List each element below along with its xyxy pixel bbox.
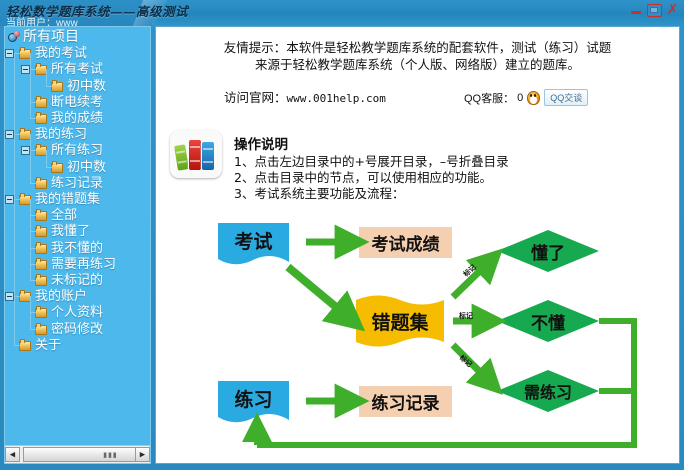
tree-node-2[interactable]: 我的成绩 bbox=[35, 110, 103, 127]
tree-node-2[interactable]: 我不懂的 bbox=[35, 240, 103, 257]
tree-connector bbox=[30, 134, 31, 183]
tree-connector bbox=[30, 215, 36, 216]
books-icon bbox=[170, 130, 222, 178]
tree-node-root[interactable]: 所有项目 bbox=[7, 29, 79, 46]
visit-label: 访问官网： bbox=[224, 90, 287, 105]
folder-icon bbox=[35, 274, 48, 287]
tree-connector bbox=[14, 134, 20, 135]
tree-connector bbox=[30, 150, 36, 151]
tree-expander[interactable] bbox=[5, 195, 14, 204]
tree-node-2[interactable]: 全部 bbox=[35, 207, 77, 224]
folder-icon bbox=[35, 96, 48, 109]
tree-node-label: 我懂了 bbox=[51, 223, 90, 240]
folder-icon bbox=[35, 258, 48, 271]
tree-expander[interactable] bbox=[5, 49, 14, 58]
tree-node-label: 我的账户 bbox=[35, 288, 87, 305]
tree-node-label: 需要再练习 bbox=[51, 256, 116, 273]
tree-connector bbox=[46, 167, 52, 168]
workflow-diagram: 标记 标记 标记 考试 考试成绩 错题集 练习 练习记录 懂了 不懂 需练习 bbox=[156, 205, 679, 463]
tree-connector bbox=[30, 280, 36, 281]
application-window: 轻松数学题库系统——高级测试 当前用户：www ✗ 所有项目我的考试所有考试初中… bbox=[0, 0, 684, 470]
tree-node-label: 我不懂的 bbox=[51, 240, 103, 257]
tip-line-1: 友情提示：本软件是轻松教学题库系统的配套软件，测试（练习）试题 bbox=[224, 40, 612, 55]
qq-chat-button[interactable]: QQ交谈 bbox=[544, 89, 588, 106]
folder-icon bbox=[19, 339, 32, 352]
operation-title: 操作说明 bbox=[234, 133, 288, 153]
tree-node-label: 我的成绩 bbox=[51, 110, 103, 127]
scroll-right-arrow[interactable]: ▶ bbox=[135, 447, 150, 462]
tree-connector bbox=[30, 53, 31, 118]
flow-node-not-understood bbox=[497, 300, 599, 342]
tree-connector bbox=[46, 69, 47, 85]
tree-node-2[interactable]: 需要再练习 bbox=[35, 256, 116, 273]
tree-node-label: 所有考试 bbox=[51, 61, 103, 78]
tree-expander[interactable] bbox=[21, 65, 30, 74]
edge-label-mark-2: 标记 bbox=[458, 311, 473, 320]
folder-icon bbox=[35, 306, 48, 319]
qq-penguin-icon bbox=[526, 90, 541, 106]
tree-connector bbox=[30, 102, 36, 103]
flow-node-exam-score bbox=[359, 227, 452, 258]
workflow-svg: 标记 标记 标记 bbox=[156, 205, 679, 463]
tree-node-1[interactable]: 关于 bbox=[19, 337, 61, 354]
tree-node-label: 初中数 bbox=[67, 159, 106, 176]
qq-label: QQ客服： bbox=[464, 90, 514, 106]
tree-connector bbox=[14, 345, 20, 346]
tree-node-2[interactable]: 个人资料 bbox=[35, 304, 103, 321]
tree-connector bbox=[30, 199, 31, 280]
folder-icon bbox=[35, 177, 48, 190]
current-user-label: 当前用户：www bbox=[6, 14, 78, 26]
flow-node-understood bbox=[497, 230, 599, 272]
official-site-link[interactable]: www.001help.com bbox=[287, 92, 386, 105]
folder-icon bbox=[35, 225, 48, 238]
folder-icon bbox=[35, 242, 48, 255]
tree-node-3[interactable]: 初中数 bbox=[51, 159, 106, 176]
tree-connector bbox=[30, 69, 36, 70]
tree-node-label: 练习记录 bbox=[51, 175, 103, 192]
maximize-icon[interactable] bbox=[647, 4, 662, 17]
tree-node-label: 全部 bbox=[51, 207, 77, 224]
close-icon[interactable]: ✗ bbox=[665, 4, 680, 17]
tip-line-2: 来源于轻松教学题库系统（个人版、网络版）建立的题库。 bbox=[156, 56, 679, 73]
sidebar-horizontal-scrollbar[interactable]: ◀ ▮▮▮ ▶ bbox=[5, 445, 150, 463]
folder-icon bbox=[35, 209, 48, 222]
folder-icon bbox=[35, 323, 48, 336]
tree-node-label: 我的练习 bbox=[35, 126, 87, 143]
folder-icon bbox=[51, 161, 64, 174]
tree-node-label: 我的错题集 bbox=[35, 191, 100, 208]
tree-connector bbox=[14, 296, 20, 297]
tree-node-label: 未标记的 bbox=[51, 272, 103, 289]
minimize-icon[interactable] bbox=[629, 4, 644, 17]
scroll-left-glyph: ◀ bbox=[10, 451, 15, 458]
tree-connector bbox=[30, 312, 36, 313]
tree-connector bbox=[14, 199, 20, 200]
scroll-grip: ▮▮▮ bbox=[103, 451, 118, 459]
tree-node-2[interactable]: 我懂了 bbox=[35, 223, 90, 240]
qq-service-group: QQ客服： 0 QQ交谈 bbox=[464, 89, 588, 106]
tree-expander[interactable] bbox=[21, 146, 30, 155]
tree-node-label: 密码修改 bbox=[51, 321, 103, 338]
tree-expander[interactable] bbox=[5, 292, 14, 301]
main-content-panel: 友情提示：本软件是轻松教学题库系统的配套软件，测试（练习）试题 来源于轻松教学题… bbox=[155, 26, 680, 464]
tree-node-label: 个人资料 bbox=[51, 304, 103, 321]
tree-node-2[interactable]: 密码修改 bbox=[35, 321, 103, 338]
flow-node-practice bbox=[218, 381, 289, 422]
all-items-icon bbox=[7, 31, 20, 44]
scroll-left-arrow[interactable]: ◀ bbox=[5, 447, 20, 462]
flow-node-need-practice bbox=[497, 370, 599, 412]
scroll-right-glyph: ▶ bbox=[140, 451, 145, 458]
tree-connector bbox=[30, 183, 36, 184]
tree-connector bbox=[46, 86, 52, 87]
tree-connector bbox=[14, 53, 20, 54]
tree-connector bbox=[30, 329, 36, 330]
flow-node-wrong-set bbox=[356, 296, 444, 347]
tree-node-label: 所有项目 bbox=[23, 29, 79, 46]
official-site-line: 访问官网：www.001help.com bbox=[224, 87, 386, 106]
sidebar-tree-panel: 所有项目我的考试所有考试初中数断电续考我的成绩我的练习所有练习初中数练习记录我的… bbox=[4, 26, 151, 464]
project-tree: 所有项目我的考试所有考试初中数断电续考我的成绩我的练习所有练习初中数练习记录我的… bbox=[5, 27, 151, 445]
tree-node-1[interactable]: 我的错题集 bbox=[19, 191, 100, 208]
tree-node-label: 我的考试 bbox=[35, 45, 87, 62]
title-bar: 轻松数学题库系统——高级测试 当前用户：www ✗ bbox=[0, 0, 684, 26]
tree-node-label: 所有练习 bbox=[51, 142, 103, 159]
flow-node-exam bbox=[218, 223, 289, 264]
scroll-thumb[interactable]: ▮▮▮ bbox=[23, 447, 151, 462]
tree-node-2[interactable]: 未标记的 bbox=[35, 272, 103, 289]
scroll-track[interactable]: ▮▮▮ bbox=[20, 447, 135, 462]
folder-icon bbox=[35, 112, 48, 125]
tree-connector bbox=[30, 248, 36, 249]
tree-node-label: 初中数 bbox=[67, 78, 106, 95]
window-controls: ✗ bbox=[629, 4, 680, 17]
flow-node-practice-record bbox=[359, 386, 452, 417]
tree-node-2[interactable]: 断电续考 bbox=[35, 94, 103, 111]
tree-expander[interactable] bbox=[5, 130, 14, 139]
tree-connector bbox=[30, 118, 36, 119]
operation-step-3: 3、考试系统主要功能及流程： bbox=[234, 183, 404, 202]
tree-node-3[interactable]: 初中数 bbox=[51, 78, 106, 95]
friendly-tip: 友情提示：本软件是轻松教学题库系统的配套软件，测试（练习）试题 来源于轻松教学题… bbox=[156, 39, 679, 73]
tree-connector bbox=[46, 150, 47, 166]
tree-connector bbox=[30, 231, 36, 232]
folder-icon bbox=[51, 80, 64, 93]
tree-node-2[interactable]: 练习记录 bbox=[35, 175, 103, 192]
tree-node-label: 断电续考 bbox=[51, 94, 103, 111]
qq-count: 0 bbox=[517, 92, 523, 104]
tree-node-label: 关于 bbox=[35, 337, 61, 354]
tree-connector bbox=[30, 264, 36, 265]
